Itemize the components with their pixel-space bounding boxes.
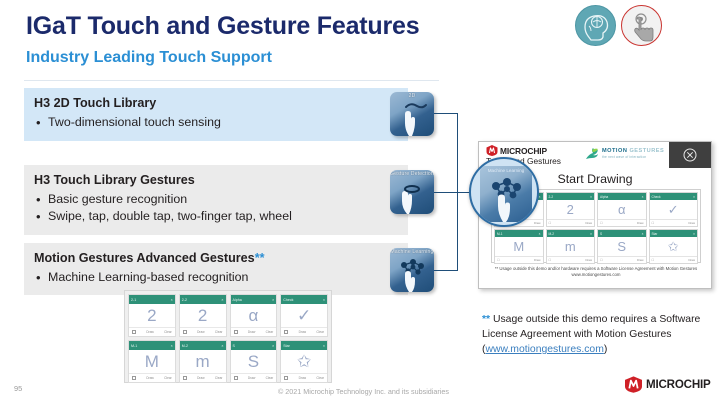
gesture-card-edit[interactable]: Draw [299, 376, 306, 380]
gesture-card-clear[interactable]: Clear [164, 376, 172, 380]
gesture-card-clear[interactable]: Clear [316, 376, 324, 380]
demo-gesture-row: M-1× M ☐Draw M-2× m ☐Draw S× S ☐Draw Sta… [494, 229, 698, 264]
feature-block-heading: H3 2D Touch Library [34, 96, 398, 112]
connector-line-top [434, 113, 458, 114]
license-footnote: ** Usage outside this demo requires a So… [482, 312, 710, 357]
gesture-card-close-icon[interactable]: × [171, 344, 173, 348]
gesture-card-clear[interactable]: Clear [215, 330, 223, 334]
gesture-card-glyph: α [231, 304, 277, 327]
gesture-card-label: M-2 [182, 344, 188, 348]
demo-gesture-card[interactable]: Star× ✩ ☐Draw [649, 229, 699, 264]
gesture-card[interactable]: M-2× m DrawClear [179, 340, 227, 383]
bullet-text: Basic gesture recognition [48, 191, 187, 209]
close-icon [683, 148, 697, 162]
demo-card-close-icon: × [642, 195, 644, 199]
gesture-card-checkbox[interactable] [234, 330, 238, 334]
gesture-row: M-1× M DrawClear M-2× m DrawClear S× S D… [128, 340, 328, 383]
gesture-card[interactable]: 2-1× 2 DrawClear [128, 294, 176, 337]
gesture-card-clear[interactable]: Clear [266, 376, 274, 380]
gesture-card-close-icon[interactable]: × [171, 298, 173, 302]
demo-card-checkbox[interactable]: ☐ [549, 221, 552, 225]
gesture-card-label: Check [283, 298, 293, 302]
demo-card-checkbox[interactable]: ☐ [600, 258, 603, 262]
feature-block-gestures: H3 Touch Library Gestures • Basic gestur… [24, 165, 408, 235]
demo-card-checkbox[interactable]: ☐ [652, 258, 655, 262]
gesture-card[interactable]: Star× ✩ DrawClear [280, 340, 328, 383]
demo-card-glyph: ✓ [650, 200, 698, 219]
thumb-label: Gesture Detection [390, 171, 434, 177]
demo-card-actions[interactable]: Draw [534, 258, 541, 262]
demo-card-checkbox[interactable]: ☐ [549, 258, 552, 262]
demo-card-actions[interactable]: Draw [688, 258, 695, 262]
feature-bullet: • Basic gesture recognition [34, 191, 398, 209]
demo-gesture-card[interactable]: S× S ☐Draw [597, 229, 647, 264]
demo-gesture-card[interactable]: M-2× m ☐Draw [546, 229, 596, 264]
connector-line-middle [434, 192, 458, 193]
bullet-marker: • [34, 114, 48, 132]
demo-card-label: M-2 [549, 232, 555, 236]
gesture-card-glyph: m [180, 350, 226, 373]
gesture-grid-screenshot: 2-1× 2 DrawClear 2-2× 2 DrawClear Alpha×… [124, 290, 332, 383]
gesture-card-checkbox[interactable] [183, 330, 187, 334]
demo-card-label: 2-2 [549, 195, 554, 199]
demo-card-actions[interactable]: Draw [637, 258, 644, 262]
feature-bullet: • Machine Learning-based recognition [34, 269, 398, 287]
demo-card-close-icon: × [539, 195, 541, 199]
magnifier-callout: Machine Learning [469, 157, 539, 227]
hand-glyph-icon [390, 100, 434, 136]
magnified-thumb-label: Machine Learning [480, 168, 532, 173]
demo-card-glyph: S [598, 237, 646, 256]
microchip-wordmark: MICROCHIP [646, 378, 711, 391]
connector-line-bottom [434, 270, 458, 271]
gesture-card-close-icon[interactable]: × [221, 298, 223, 302]
demo-footnote: ** Usage outside this demo and/or hardwa… [493, 266, 699, 279]
gesture-card-clear[interactable]: Clear [316, 330, 324, 334]
page-number: 95 [14, 384, 22, 393]
demo-card-close-icon: × [590, 232, 592, 236]
motiongestures-link[interactable]: www.motiongestures.com [485, 344, 603, 355]
copyright-text: © 2021 Microchip Technology Inc. and its… [278, 387, 449, 396]
feature-block-motion-gestures: Motion Gestures Advanced Gestures** • Ma… [24, 243, 408, 295]
hand-touch-icon [621, 5, 662, 46]
gesture-card-glyph: 2 [180, 304, 226, 327]
bullet-text: Swipe, tap, double tap, two-finger tap, … [48, 208, 292, 226]
thumb-icon-gesture-detection: Gesture Detection [390, 170, 434, 214]
gesture-card-edit[interactable]: Draw [197, 376, 204, 380]
demo-card-label: Star [652, 232, 658, 236]
feature-bullet: • Two-dimensional touch sensing [34, 114, 398, 132]
gesture-card-edit[interactable]: Draw [146, 376, 153, 380]
brain-touch-icon [575, 5, 616, 46]
demo-card-glyph: M [495, 237, 543, 256]
gesture-card-checkbox[interactable] [183, 376, 187, 380]
demo-card-actions[interactable]: Draw [585, 221, 592, 225]
gesture-card-checkbox[interactable] [284, 376, 288, 380]
demo-card-label: M-1 [497, 232, 503, 236]
gesture-card-close-icon[interactable]: × [323, 298, 325, 302]
gesture-card-edit[interactable]: Draw [248, 376, 255, 380]
gesture-card[interactable]: Check× ✓ DrawClear [280, 294, 328, 337]
header-divider [24, 80, 439, 81]
bullet-marker: • [34, 191, 48, 209]
demo-close-button[interactable] [669, 142, 711, 168]
gesture-card[interactable]: Alpha× α DrawClear [230, 294, 278, 337]
gesture-card-clear[interactable]: Clear [266, 330, 274, 334]
footnote-marker: ** [255, 251, 265, 265]
gesture-card-checkbox[interactable] [284, 330, 288, 334]
gesture-card-label: 2-1 [131, 298, 136, 302]
gesture-card-clear[interactable]: Clear [164, 330, 172, 334]
demo-card-close-icon: × [642, 232, 644, 236]
demo-microchip-logo: MICROCHIP [486, 145, 547, 156]
demo-gesture-card[interactable]: 2-2× 2 ☐Draw [546, 192, 596, 227]
demo-card-close-icon: × [590, 195, 592, 199]
microchip-mark-icon [486, 145, 498, 156]
demo-card-glyph: m [547, 237, 595, 256]
gesture-card-label: Star [283, 344, 290, 348]
feature-block-heading: H3 Touch Library Gestures [34, 173, 398, 189]
demo-card-close-icon: × [693, 232, 695, 236]
gesture-row: 2-1× 2 DrawClear 2-2× 2 DrawClear Alpha×… [128, 294, 328, 337]
mg-tagline: the next wave of interaction [602, 156, 664, 159]
gesture-card-clear[interactable]: Clear [215, 376, 223, 380]
demo-card-actions[interactable]: Draw [688, 221, 695, 225]
bullet-marker: • [34, 269, 48, 287]
footnote-text-end: ) [604, 344, 607, 355]
gesture-card-glyph: S [231, 350, 277, 373]
gesture-card-checkbox[interactable] [132, 330, 136, 334]
motion-gestures-text: MOTION GESTURES the next wave of interac… [602, 149, 664, 159]
demo-card-checkbox[interactable]: ☐ [497, 258, 500, 262]
hand-glyph-icon [390, 180, 434, 214]
hummingbird-icon [585, 147, 599, 161]
gesture-card-close-icon[interactable]: × [272, 344, 274, 348]
footnote-marker: ** [482, 314, 490, 325]
gesture-card-glyph: M [129, 350, 175, 373]
demo-card-checkbox[interactable]: ☐ [600, 221, 603, 225]
microchip-mark-icon [624, 376, 643, 393]
demo-card-close-icon: × [693, 195, 695, 199]
slide-root: IGaT Touch and Gesture Features Industry… [0, 0, 720, 405]
thumb-label: Machine Learning [390, 249, 434, 255]
gesture-card-edit[interactable]: Draw [197, 330, 204, 334]
gesture-card-close-icon[interactable]: × [323, 344, 325, 348]
gesture-card-glyph: ✩ [281, 350, 327, 373]
demo-card-glyph: 2 [547, 200, 595, 219]
thumb-icon-machine-learning: Machine Learning [390, 248, 434, 292]
gesture-card-label: 2-2 [182, 298, 187, 302]
magnified-thumb: Machine Learning [480, 166, 532, 222]
thumb-label: 2D [390, 93, 434, 99]
bullet-text: Machine Learning-based recognition [48, 269, 248, 287]
gesture-card-close-icon[interactable]: × [272, 298, 274, 302]
mg-name-primary: MOTION [602, 148, 627, 154]
bullet-text: Two-dimensional touch sensing [48, 114, 221, 132]
magnified-neural-hand-icon [480, 174, 532, 222]
gesture-card-checkbox[interactable] [234, 376, 238, 380]
demo-card-glyph: α [598, 200, 646, 219]
gesture-card-edit[interactable]: Draw [146, 330, 153, 334]
motion-gestures-logo: MOTION GESTURES the next wave of interac… [585, 147, 664, 161]
demo-card-glyph: ✩ [650, 237, 698, 256]
demo-card-label: Check [652, 195, 661, 199]
demo-card-actions[interactable]: Draw [637, 221, 644, 225]
demo-gesture-card[interactable]: M-1× M ☐Draw [494, 229, 544, 264]
demo-card-actions[interactable]: Draw [534, 221, 541, 225]
gesture-card-glyph: 2 [129, 304, 175, 327]
gesture-card[interactable]: 2-2× 2 DrawClear [179, 294, 227, 337]
demo-card-actions[interactable]: Draw [585, 258, 592, 262]
bullet-marker: • [34, 208, 48, 226]
mg-name-secondary: GESTURES [629, 148, 664, 154]
gesture-card-label: Alpha [233, 298, 242, 302]
feature-bullet: • Swipe, tap, double tap, two-finger tap… [34, 208, 398, 226]
demo-card-label: Alpha [600, 195, 608, 199]
microchip-footer-logo: MICROCHIP [624, 376, 711, 393]
neural-hand-glyph-icon [390, 256, 434, 292]
demo-brand-text: MICROCHIP [500, 146, 547, 156]
feature-block-2d-touch: H3 2D Touch Library • Two-dimensional to… [24, 88, 408, 141]
gesture-card-label: M-1 [131, 344, 137, 348]
gesture-card-close-icon[interactable]: × [221, 344, 223, 348]
page-subtitle: Industry Leading Touch Support [26, 49, 272, 67]
demo-card-close-icon: × [539, 232, 541, 236]
page-title: IGaT Touch and Gesture Features [26, 12, 419, 41]
demo-card-checkbox[interactable]: ☐ [652, 221, 655, 225]
gesture-card[interactable]: S× S DrawClear [230, 340, 278, 383]
gesture-card-glyph: ✓ [281, 304, 327, 327]
gesture-card-checkbox[interactable] [132, 376, 136, 380]
gesture-card-label: S [233, 344, 235, 348]
thumb-icon-2d: 2D [390, 92, 434, 136]
gesture-card[interactable]: M-1× M DrawClear [128, 340, 176, 383]
gesture-card-edit[interactable]: Draw [248, 330, 255, 334]
gesture-card-edit[interactable]: Draw [299, 330, 306, 334]
feature-block-heading: Motion Gestures Advanced Gestures** [34, 251, 398, 267]
demo-card-label: S [600, 232, 602, 236]
demo-gesture-card[interactable]: Alpha× α ☐Draw [597, 192, 647, 227]
demo-gesture-card[interactable]: Check× ✓ ☐Draw [649, 192, 699, 227]
